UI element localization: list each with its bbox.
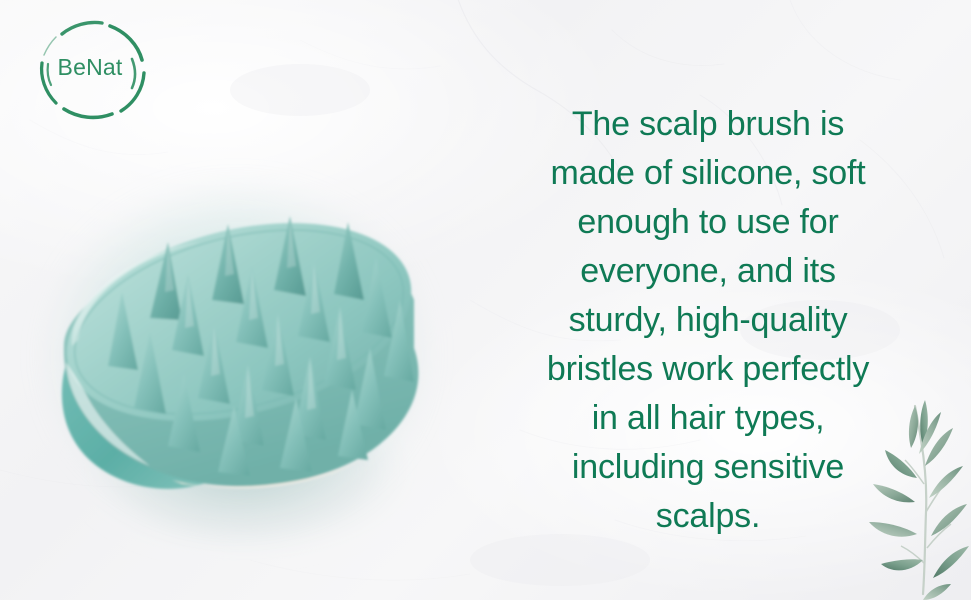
logo-wordmark: BeNat <box>26 53 154 80</box>
copy-line: scalps. <box>498 492 918 541</box>
product-description: The scalp brush is made of silicone, sof… <box>498 100 918 541</box>
copy-line: enough to use for <box>498 198 918 247</box>
copy-line: in all hair types, <box>498 394 918 443</box>
copy-line: The scalp brush is <box>498 100 918 149</box>
copy-line: made of silicone, soft <box>498 149 918 198</box>
copy-line: everyone, and its <box>498 247 918 296</box>
olive-branch-decoration <box>867 388 971 600</box>
copy-line: bristles work perfectly <box>498 345 918 394</box>
benat-logo[interactable]: BeNat <box>26 15 154 120</box>
product-banner: BeNat <box>0 0 971 600</box>
copy-line: including sensitive <box>498 443 918 492</box>
product-image-scalp-brush <box>22 150 462 570</box>
copy-line: sturdy, high-quality <box>498 296 918 345</box>
